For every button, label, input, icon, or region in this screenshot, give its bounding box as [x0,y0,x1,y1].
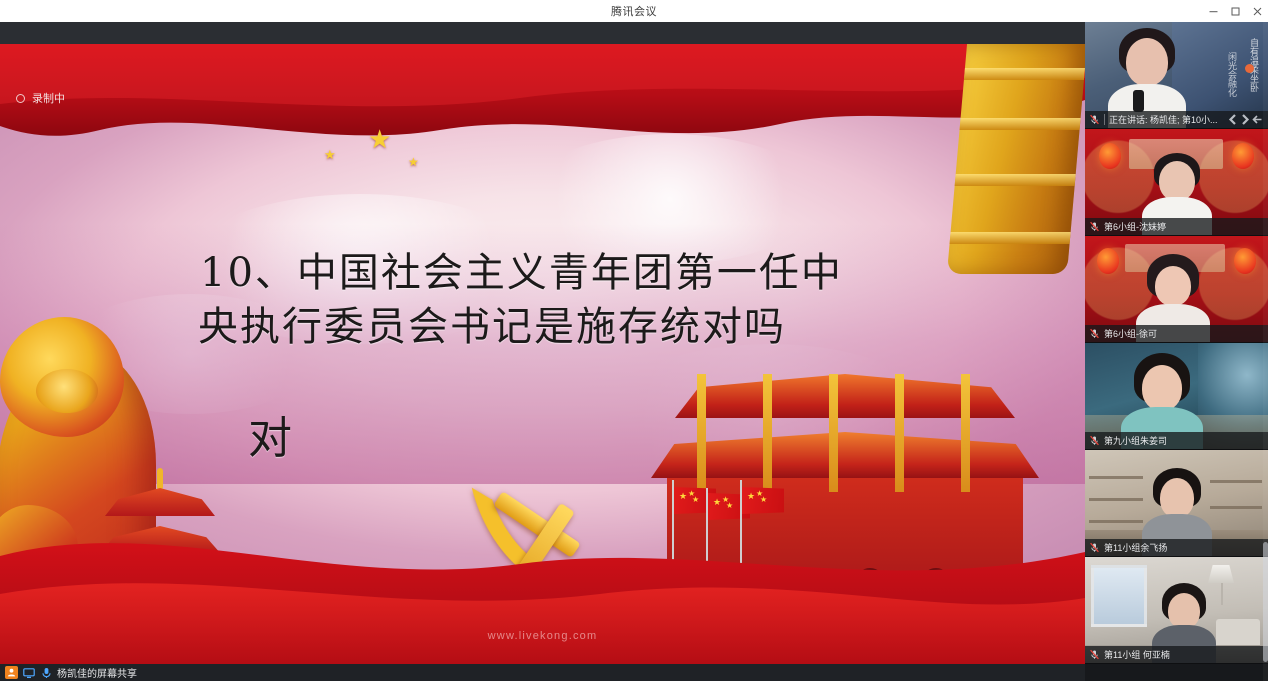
participant-label-5: 第11小组 何亚楠 [1085,646,1268,663]
mic-muted-icon [1089,221,1100,232]
participant-name-5: 第11小组 何亚楠 [1104,648,1264,661]
participant-label-3: 第九小组朱姜司 [1085,432,1268,449]
mic-muted-icon [1089,435,1100,446]
participant-tile-4[interactable]: 第11小组余飞扬 [1085,450,1268,557]
slide-watermark: www.livekong.com [0,630,1085,642]
share-status-label: 杨凯佳的屏幕共享 [57,665,137,680]
mic-muted-icon [1089,114,1100,125]
chevron-left-icon [1228,114,1238,125]
title-bar: 腾讯会议 [0,0,1268,22]
participant-name-0: 正在讲话: 杨凯佳; 第10小... [1109,113,1224,126]
participant-name-3: 第九小组朱姜司 [1104,434,1264,447]
maximize-icon[interactable] [1224,0,1246,22]
window-title: 腾讯会议 [611,3,657,19]
participant-label-2: 第6小组-徐可 [1085,325,1268,342]
chevron-right-icon [1240,114,1250,125]
participant-tile-2[interactable]: 第6小组-徐可 [1085,236,1268,343]
label-divider [1104,114,1105,125]
record-dot-icon [16,94,25,103]
participant-name-1: 第6小组-沈妹婷 [1104,220,1264,233]
mic-muted-icon [1089,328,1100,339]
participant-label-4: 第11小组余飞扬 [1085,539,1268,556]
participant-tile-5[interactable]: 第11小组 何亚楠 [1085,557,1268,664]
participant-label-0: 正在讲话: 杨凯佳; 第10小... [1085,111,1268,128]
microphone-icon[interactable] [40,667,52,679]
window-controls [1202,0,1268,22]
screen-share-status-bar: 杨凯佳的屏幕共享 [0,664,1085,681]
participant-label-1: 第6小组-沈妹婷 [1085,218,1268,235]
slide-text-block: 10、中国社会主义青年团第一任中 央执行委员会书记是施存统对吗 对 [0,44,1085,664]
close-icon[interactable] [1246,0,1268,22]
monitor-icon[interactable] [23,667,35,679]
minimize-icon[interactable] [1202,0,1224,22]
participant-tile-3[interactable]: 第九小组朱姜司 [1085,343,1268,450]
scrollbar-thumb[interactable] [1263,542,1268,662]
meeting-toolbar-strip [0,22,1085,44]
recording-label: 录制中 [32,90,65,106]
tencent-meeting-window: 腾讯会议 [0,0,1268,681]
answer-text: 对 [248,402,292,466]
participant-tile-0[interactable]: 自有温柔坐卧 闲光会融化 [1085,22,1268,129]
participant-video-strip[interactable]: 自有温柔坐卧 闲光会融化 [1085,22,1268,681]
question-line-2: 央执行委员会书记是施存统对吗 [198,294,786,352]
question-line-1: 10、中国社会主义青年团第一任中 [200,240,843,298]
recording-indicator[interactable]: 录制中 [16,90,65,106]
presentation-slide: ★ ★ ★ [0,44,1085,664]
participant-strip-scrollbar[interactable] [1263,22,1268,681]
user-icon [5,666,18,679]
mic-muted-icon [1089,649,1100,660]
participant-name-4: 第11小组余飞扬 [1104,541,1264,554]
shared-screen-area[interactable]: ★ ★ ★ [0,44,1085,664]
mic-muted-icon [1089,542,1100,553]
tile-nav-controls[interactable] [1228,114,1264,125]
participant-tile-1[interactable]: 第6小组-沈妹婷 [1085,129,1268,236]
participant-name-2: 第6小组-徐可 [1104,327,1264,340]
